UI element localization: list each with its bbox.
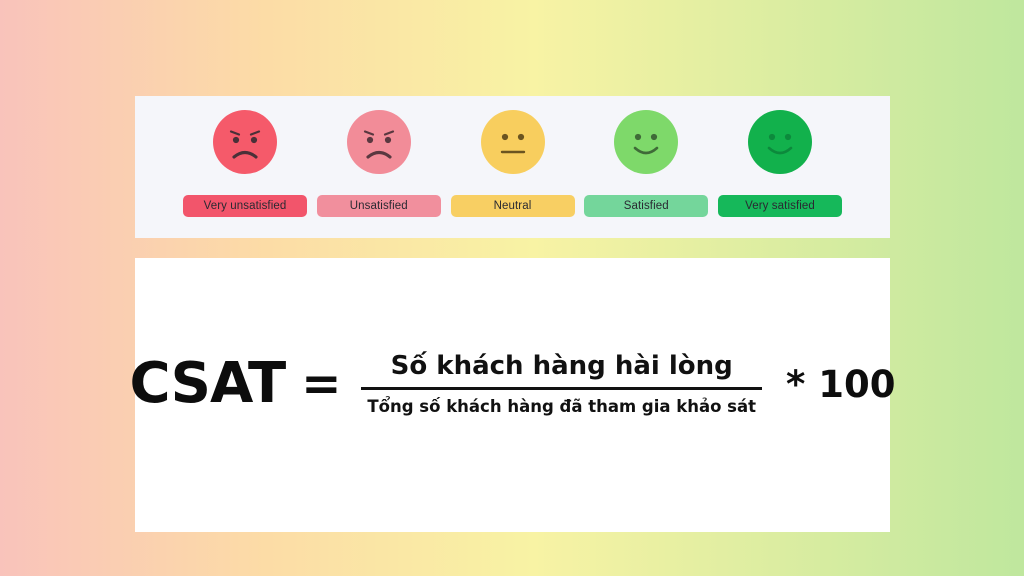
multiplier-times-100: * 100 (786, 366, 895, 403)
pill-label-very-satisfied[interactable]: Very satisfied (718, 195, 842, 217)
face-very-unsatisfied-icon[interactable] (213, 110, 277, 174)
face-very-satisfied-icon[interactable] (748, 110, 812, 174)
csat-formula-panel: CSAT = Số khách hàng hài lòng Tổng số kh… (135, 258, 890, 532)
fraction-denominator: Tổng số khách hàng đã tham gia khảo sát (361, 390, 762, 418)
face-unsatisfied-icon[interactable] (347, 110, 411, 174)
face-satisfied-icon[interactable] (614, 110, 678, 174)
face-neutral-icon[interactable] (481, 110, 545, 174)
satisfaction-scale-panel: Very unsatisfied Unsatisfied (135, 96, 890, 238)
scale-item-unsatisfied[interactable]: Unsatisfied (317, 110, 441, 217)
pill-label-unsatisfied[interactable]: Unsatisfied (317, 195, 441, 217)
csat-formula: CSAT = Số khách hàng hài lòng Tổng số kh… (135, 258, 890, 532)
scale-item-very-unsatisfied[interactable]: Very unsatisfied (183, 110, 307, 217)
csat-fraction: Số khách hàng hài lòng Tổng số khách hàn… (361, 350, 762, 418)
scale-item-satisfied[interactable]: Satisfied (584, 110, 708, 217)
pill-label-very-unsatisfied[interactable]: Very unsatisfied (183, 195, 307, 217)
equals-sign: = (301, 360, 341, 408)
scale-item-neutral[interactable]: Neutral (451, 110, 575, 217)
pill-label-neutral[interactable]: Neutral (451, 195, 575, 217)
csat-metric-label: CSAT (130, 356, 286, 412)
satisfaction-scale-row: Very unsatisfied Unsatisfied (135, 96, 890, 238)
fraction-numerator: Số khách hàng hài lòng (385, 350, 739, 388)
pill-label-satisfied[interactable]: Satisfied (584, 195, 708, 217)
scale-item-very-satisfied[interactable]: Very satisfied (718, 110, 842, 217)
